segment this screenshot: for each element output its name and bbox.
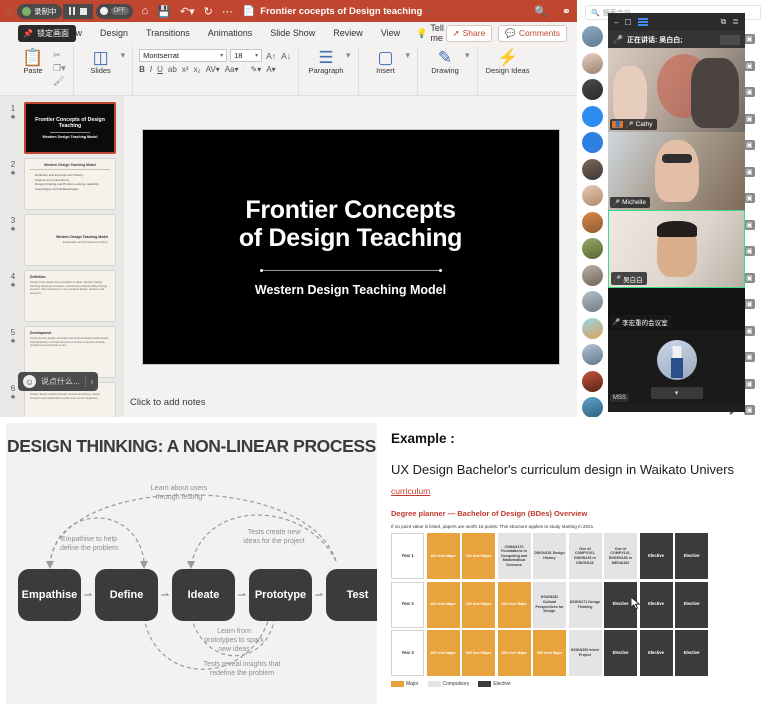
drawing-button[interactable]: ✎ Drawing — [425, 46, 465, 76]
text-highlight-icon[interactable]: ✎▾ — [251, 65, 262, 74]
chevron-down-icon[interactable]: ▾ — [427, 8, 430, 15]
tell-me-label: Tell me — [430, 23, 445, 43]
degree-planner-title: Degree planner — Bachelor of Design (BDe… — [391, 509, 770, 518]
ribbon-tabs[interactable]: Home Draw Design Transitions Animations … — [0, 22, 577, 44]
cam-off-icon: ▣ — [744, 167, 755, 177]
thumb-title: Western Design Teaching Model — [56, 235, 108, 239]
avatar[interactable] — [582, 53, 603, 74]
design-ideas-icon: ⚡ — [497, 48, 518, 67]
thumbnail-slide-3[interactable]: 3 ★ Western Design Teaching Model Explan… — [0, 212, 124, 268]
thumbnail-slide-2[interactable]: 2 ★ Western Design Teaching Model Defini… — [0, 156, 124, 212]
course-cell[interactable]: One of COMPX101, DSIGN125 or DSIGN126 — [569, 533, 602, 579]
slides-chevron-down-icon[interactable]: ▾ — [121, 50, 126, 61]
cut-icon[interactable]: ✂ — [53, 50, 66, 61]
table-row: Year 1 100 level Major 100 level Major C… — [391, 533, 770, 579]
lock-screen-label: 锁定画面 — [37, 28, 69, 39]
powerpoint-window: 录制中 OFF ⌂ 💾 ↶▾ ↻ ⋯ 📄 Frontier cocepts of… — [0, 0, 577, 417]
year-label: Year 2 — [391, 582, 424, 628]
arrow-right-icon: ⇀ — [312, 590, 326, 601]
font-family-value: Montserrat — [143, 51, 179, 60]
paste-button[interactable]: 📋 Paste — [13, 46, 53, 76]
thumbnail-slide-1[interactable]: 1 ★ Frontier Concepts of Design Teaching… — [0, 100, 124, 156]
slide-number: 5 — [2, 328, 24, 337]
arrow-right-icon: ⇀ — [81, 590, 95, 601]
course-cell[interactable]: Elective — [640, 533, 673, 579]
thumb-header: Development — [30, 331, 110, 335]
layout-icon[interactable]: ≣ — [732, 17, 739, 27]
search-icon: 🔍 — [591, 9, 600, 17]
slide-title-line1[interactable]: Frontier Concepts — [245, 196, 455, 224]
avatar[interactable] — [582, 371, 603, 392]
toggle-knob-icon — [100, 7, 108, 15]
file-title[interactable]: 📄 Frontier cocepts of Design teaching ▾ — [243, 6, 431, 17]
self-tile-label: MSS — [610, 394, 629, 402]
divider-line — [263, 270, 439, 271]
avatar[interactable] — [582, 185, 603, 206]
chevron-down-icon: ▾ — [220, 52, 223, 59]
course-cell[interactable]: Elective — [675, 533, 708, 579]
course-cell[interactable]: Elective — [675, 582, 708, 628]
thumb-body: Contemporary design education has evolve… — [30, 337, 110, 348]
subscript-icon[interactable]: x₂ — [194, 65, 201, 74]
logo-icon — [720, 35, 740, 45]
save-icon[interactable]: 💾 — [157, 5, 171, 18]
cam-off-icon: ▣ — [744, 405, 755, 415]
tab-review[interactable]: Review — [324, 28, 372, 38]
notes-placeholder: Click to add notes — [130, 397, 206, 408]
insert-textbox-icon: ▢ — [377, 48, 393, 67]
course-cell[interactable]: 100 level Major — [462, 533, 495, 579]
course-cell[interactable]: 300 level Major — [427, 630, 460, 676]
paragraph-group: ☰ Paragraph ▾ — [299, 46, 359, 95]
slide-subtitle[interactable]: Western Design Teaching Model — [255, 283, 446, 297]
avatar[interactable] — [582, 26, 603, 47]
chevron-down-icon[interactable]: ▾ — [465, 50, 470, 61]
close-dot[interactable] — [6, 8, 13, 15]
slide-thumbnail-panel[interactable]: 1 ★ Frontier Concepts of Design Teaching… — [0, 96, 124, 417]
course-cell[interactable]: 200 level Major — [427, 582, 460, 628]
font-family-select[interactable]: Montserrat ▾ — [139, 49, 227, 62]
lock-screen-tooltip: 📌 锁定画面 — [18, 25, 76, 42]
tile-name-badge: 🎤 Michelle — [610, 197, 650, 208]
speaker-icon: 🎤 — [613, 35, 623, 44]
stage-prototype[interactable]: Prototype — [249, 569, 312, 621]
table-legend: Major Compulsory Elective — [391, 681, 770, 687]
avatar[interactable] — [582, 132, 603, 153]
star-icon: ★ — [2, 225, 24, 234]
tab-animations[interactable]: Animations — [199, 28, 262, 38]
slide-number: 1 — [2, 104, 24, 113]
slide-number: 3 — [2, 216, 24, 225]
slide-editor-area: Frontier Concepts of Design Teaching Wes… — [124, 96, 577, 417]
course-cell[interactable]: DSIGN271 Design Thinking — [569, 582, 602, 628]
chat-input-overlay[interactable]: ☺ 说点什么... ‹ — [18, 372, 98, 391]
cam-on-icon: ▣ — [744, 87, 755, 97]
clipboard-group: 📋 Paste ✂ ❐▾ 🖌 — [6, 46, 74, 95]
cam-on-icon: ▣ — [744, 61, 755, 71]
slide-number: 4 — [2, 272, 24, 281]
paragraph-label: Paragraph — [308, 67, 343, 76]
mouse-cursor-icon — [631, 597, 642, 610]
course-cell[interactable]: 200 level Major — [462, 582, 495, 628]
table-row: Year 3 300 level Major 300 level Major 3… — [391, 630, 770, 676]
curriculum-link[interactable]: curriculum — [391, 486, 770, 496]
course-cell[interactable]: 100 level Major — [427, 533, 460, 579]
quick-access-toolbar[interactable]: ⌂ 💾 ↶▾ ↻ ⋯ — [142, 5, 233, 18]
video-tile-meeting-room[interactable]: 🎤 李宏重的会议室 — [608, 288, 745, 330]
avatar[interactable] — [582, 265, 603, 286]
undo-icon[interactable]: ↶▾ — [180, 5, 195, 18]
divider — [50, 132, 90, 133]
search-icon[interactable]: 🔍 — [534, 5, 548, 18]
curriculum-heading: UX Design Bachelor's curriculum design i… — [391, 462, 770, 477]
slide-number: 2 — [2, 160, 24, 169]
mic-on-icon: 🎤 — [613, 275, 621, 283]
tab-slide-show[interactable]: Slide Show — [261, 28, 324, 38]
course-cell[interactable]: 300 level Major — [462, 630, 495, 676]
course-cell[interactable]: Elective — [604, 630, 637, 676]
font-size-select[interactable]: 18 ▾ — [230, 49, 262, 62]
titlebar-right-actions[interactable]: 🔍 ⚭ — [534, 5, 571, 18]
points-note: If no point value is listed, papers are … — [391, 524, 770, 529]
home-icon[interactable]: ⌂ — [142, 5, 149, 17]
collapse-icon[interactable]: ‹ — [91, 377, 94, 386]
divider-dot-icon — [439, 269, 442, 272]
comment-icon: 💬 — [505, 28, 516, 39]
popout-icon[interactable]: ⧉ — [721, 17, 727, 27]
star-icon: ★ — [2, 281, 24, 290]
chat-placeholder: 说点什么... — [41, 376, 80, 387]
table-row: Year 2 200 level Major 200 level Major 2… — [391, 582, 770, 628]
curriculum-panel: Example : UX Design Bachelor's curriculu… — [383, 417, 770, 708]
font-size-value: 18 — [234, 51, 242, 60]
avatar[interactable] — [582, 318, 603, 339]
course-cell[interactable]: DSIGN350 Intern Project — [569, 630, 602, 676]
course-cell[interactable]: CSMAX170 Foundations in Computing and Ma… — [498, 533, 531, 579]
self-view-tile[interactable]: MSS ▾ — [608, 330, 745, 404]
thumbnail-slide-4[interactable]: 4 ★ Definition Design is the visual comm… — [0, 268, 124, 324]
mic-off-icon: 🎤 — [612, 318, 620, 326]
video-meeting-window: – ☐ ⧉ ≣ 🎤 正在讲话: 吴白白; 👤 🎤 — [608, 13, 745, 412]
design-thinking-title: DESIGN THINKING: A NON-LINEAR PROCESS — [6, 423, 377, 457]
character-spacing-icon[interactable]: AV▾ — [206, 65, 220, 74]
slides-icon: ◫ — [93, 48, 109, 67]
window-controls[interactable] — [6, 8, 13, 15]
chevron-down-icon: ▾ — [255, 52, 258, 59]
increase-font-size-icon[interactable]: A↑ — [265, 51, 277, 61]
caption-empathise-define: Empathise to help define the problem — [44, 535, 134, 553]
cam-off-icon: ▣ — [744, 220, 755, 230]
legend-label-major: Major — [406, 681, 419, 687]
course-cell[interactable]: 300 level Major — [533, 630, 566, 676]
decrease-font-size-icon[interactable]: A↓ — [280, 51, 292, 61]
slide-divider — [260, 269, 442, 272]
design-ideas-group: ⚡ Design Ideas — [478, 46, 538, 95]
star-icon: ★ — [2, 393, 24, 402]
mic-off-icon: 🎤 — [612, 199, 620, 207]
drawing-pen-icon: ✎ — [438, 48, 452, 67]
paragraph-button[interactable]: ☰ Paragraph — [306, 46, 346, 76]
avatar[interactable] — [582, 159, 603, 180]
caption-learn-from-prototypes: Learn from prototypes to spark new ideas — [188, 627, 280, 654]
avatar[interactable] — [582, 212, 603, 233]
course-cell[interactable]: 200 level Major — [498, 582, 531, 628]
restore-icon[interactable]: ☐ — [624, 18, 631, 27]
cam-on-icon: ▣ — [744, 114, 755, 124]
avatar[interactable] — [582, 79, 603, 100]
tab-transitions[interactable]: Transitions — [137, 28, 199, 38]
lightbulb-icon: 💡 — [416, 28, 427, 39]
speaking-label: 正在讲话: 吴白白; — [627, 35, 683, 45]
participant-name: 吴白白 — [623, 274, 643, 284]
font-group: Montserrat ▾ 18 ▾ A↑ A↓ B I U ab x² — [133, 46, 299, 95]
thumb-subtitle: Western Design Teaching Model — [43, 135, 98, 139]
stage-define[interactable]: Define — [95, 569, 158, 621]
share-label: Share — [463, 28, 486, 38]
screen-root: 录制中 OFF ⌂ 💾 ↶▾ ↻ ⋯ 📄 Frontier cocepts of… — [0, 0, 770, 708]
paste-icon: 📋 — [22, 48, 43, 67]
slides-label: Slides — [90, 67, 110, 76]
star-icon: ★ — [2, 337, 24, 346]
stage-empathise[interactable]: Empathise — [18, 569, 81, 621]
recording-controls[interactable] — [63, 4, 93, 19]
course-cell[interactable]: One of COMPX141, ENGEN180 or MEDIA102 — [604, 533, 637, 579]
tab-design[interactable]: Design — [91, 28, 137, 38]
host-icon: 👤 — [612, 121, 623, 128]
minimize-icon[interactable]: – — [614, 18, 618, 27]
degree-planner-table: Year 1 100 level Major 100 level Major C… — [391, 533, 770, 676]
thumb-header: Definition — [30, 275, 110, 279]
cam-off-icon: ▣ — [744, 193, 755, 203]
avatar[interactable] — [582, 238, 603, 259]
superscript-icon[interactable]: x² — [182, 65, 189, 74]
share-icon: ➚ — [453, 28, 460, 39]
avatar[interactable] — [582, 291, 603, 312]
design-ideas-button[interactable]: ⚡ Design Ideas — [485, 46, 531, 76]
star-icon: ★ — [2, 169, 24, 178]
stop-icon[interactable] — [80, 8, 87, 15]
design-thinking-diagram: Learn about users through testing Empath… — [6, 457, 377, 682]
paste-label: Paste — [23, 67, 42, 76]
insert-group: ▢ Insert ▾ — [359, 46, 419, 95]
file-name-label: Frontier cocepts of Design teaching — [260, 6, 422, 17]
pause-icon[interactable] — [69, 7, 75, 15]
legend-swatch-compulsory — [428, 681, 441, 687]
participant-name: Cathy — [636, 121, 653, 128]
ppt-title-bar: 录制中 OFF ⌂ 💾 ↶▾ ↻ ⋯ 📄 Frontier cocepts of… — [0, 0, 577, 22]
avatar[interactable] — [582, 397, 603, 417]
italic-icon[interactable]: I — [150, 65, 152, 74]
menu-icon[interactable] — [638, 18, 648, 26]
change-case-icon[interactable]: Aa▾ — [225, 65, 239, 74]
active-slide-canvas[interactable]: Frontier Concepts of Design Teaching Wes… — [142, 129, 560, 365]
avatar: ☺ — [23, 375, 36, 388]
copy-icon[interactable]: ❐▾ — [53, 63, 66, 74]
year-label: Year 1 — [391, 533, 424, 579]
stage-ideate[interactable]: Ideate — [172, 569, 235, 621]
thumb-title: Frontier Concepts of Design Teaching — [26, 117, 114, 129]
tile-name-badge: 🎤 李宏重的会议室 — [610, 315, 672, 328]
redo-icon[interactable]: ↻ — [204, 5, 213, 18]
recording-label: 录制中 — [34, 6, 57, 17]
course-cell[interactable]: Elective — [640, 582, 673, 628]
arrow-right-icon: ⇀ — [235, 590, 249, 601]
cloud-icon — [22, 7, 31, 16]
strikethrough-icon[interactable]: ab — [168, 65, 177, 74]
drawing-group: ✎ Drawing ▾ — [418, 46, 478, 95]
recording-toggle[interactable]: OFF — [96, 4, 133, 19]
conference-panel: 🔍 搜索会议 🎤▣ 🎤▣ 🎤▣ 🎤▣ 🎤▣ — [577, 0, 770, 417]
video-tile-wubaibai[interactable]: 🎤 吴白白 — [608, 210, 745, 288]
thumb-body: Today's design teaching blends practice … — [30, 393, 110, 400]
more-icon[interactable]: ⋯ — [222, 5, 233, 18]
expand-more-icon[interactable]: ▾ — [651, 387, 703, 399]
cam-off-icon: ▣ — [744, 379, 755, 389]
thumb-header: Western Design Teaching Model — [30, 163, 110, 170]
tab-view[interactable]: View — [372, 28, 409, 38]
course-cell[interactable]: DSIGN252 Cultural Perspectives for Desig… — [533, 582, 566, 628]
notes-pane[interactable]: Click to add notes — [124, 393, 577, 417]
ribbon-toolbar: 📋 Paste ✂ ❐▾ 🖌 ◫ Slides ▾ — [0, 44, 577, 96]
video-window-chrome[interactable]: – ☐ ⧉ ≣ — [608, 13, 745, 31]
cam-off-icon: ▣ — [744, 140, 755, 150]
slides-group: ◫ Slides ▾ — [74, 46, 134, 95]
tile-name-badge: 👤 🎤 Cathy — [610, 119, 657, 130]
course-cell[interactable]: Elective — [640, 630, 673, 676]
mic-off-icon: 🎤 — [625, 121, 633, 129]
chevron-down-icon[interactable]: ▾ — [346, 50, 351, 61]
document-icon: 📄 — [243, 6, 255, 17]
font-color-icon[interactable]: A▾ — [266, 65, 275, 74]
cam-off-icon: ▣ — [744, 326, 755, 336]
chevron-down-icon[interactable]: ▾ — [406, 50, 411, 61]
share-button[interactable]: ➚ Share — [446, 25, 493, 42]
comments-button[interactable]: 💬 Comments — [498, 25, 567, 42]
legend-swatch-major — [391, 681, 404, 687]
insert-label: Insert — [376, 67, 395, 76]
toggle-state-label: OFF — [111, 7, 129, 15]
thumb-subtitle: Explanation and Development History — [63, 241, 108, 245]
underline-icon[interactable]: U — [157, 65, 163, 74]
video-tile-michelle[interactable]: 🎤 Michelle — [608, 132, 745, 210]
design-thinking-panel: DESIGN THINKING: A NON-LINEAR PROCESS — [0, 417, 383, 708]
course-cell[interactable]: Elective — [675, 630, 708, 676]
course-cell[interactable]: 300 level Major — [498, 630, 531, 676]
pin-icon: 📌 — [23, 29, 33, 38]
active-speaker-bar: 🎤 正在讲话: 吴白白; — [608, 31, 745, 48]
example-label: Example : — [391, 431, 770, 446]
drawing-label: Drawing — [431, 67, 459, 76]
paragraph-align-icon: ☰ — [318, 48, 333, 67]
cam-off-icon: ▣ — [744, 246, 755, 256]
avatar — [657, 340, 697, 380]
caption-learn-about-users: Learn about users through testing — [134, 484, 224, 502]
cam-on-icon: ▣ — [744, 34, 755, 44]
new-slide-button[interactable]: ◫ Slides — [81, 46, 121, 76]
stage-test[interactable]: Test — [326, 569, 377, 621]
legend-label-compulsory: Compulsory — [443, 681, 470, 687]
cam-off-icon: ▣ — [744, 273, 755, 283]
comments-label: Comments — [519, 28, 560, 38]
year-label: Year 3 — [391, 630, 424, 676]
star-icon: ★ — [2, 113, 24, 122]
divider — [85, 376, 86, 387]
legend-label-elective: Elective — [493, 681, 511, 687]
participant-avatar-list[interactable] — [579, 26, 605, 417]
cam-off-icon: ▣ — [744, 352, 755, 362]
avatar[interactable] — [582, 344, 603, 365]
design-ideas-label: Design Ideas — [486, 67, 530, 76]
caption-tests-create-ideas: Tests create new ideas for the project — [228, 528, 320, 546]
slide-title-line2[interactable]: of Design Teaching — [239, 224, 462, 252]
participant-name: Michelle — [622, 199, 646, 206]
tell-me-box[interactable]: 💡 Tell me — [409, 23, 445, 43]
thumb-bullet: Advantages and Disadvantages — [30, 187, 110, 192]
caption-tests-reveal-insights: Tests reveal insights that redefine the … — [172, 660, 312, 678]
format-painter-icon[interactable]: 🖌 — [53, 76, 66, 87]
bold-icon[interactable]: B — [139, 65, 145, 74]
arrow-right-icon: ⇀ — [158, 590, 172, 601]
share-link-icon[interactable]: ⚭ — [562, 5, 571, 18]
legend-swatch-elective — [478, 681, 491, 687]
video-tile-cathy[interactable]: 👤 🎤 Cathy — [608, 48, 745, 132]
avatar[interactable] — [582, 106, 603, 127]
process-stage-row: Empathise ⇀ Define ⇀ Ideate ⇀ Prototype … — [18, 569, 377, 621]
tile-name-badge: 🎤 吴白白 — [611, 272, 647, 285]
course-cell[interactable]: DSIGN151 Design History — [533, 533, 566, 579]
recording-indicator: 录制中 — [17, 4, 62, 19]
thumb-body: Design is the visual communication of id… — [30, 281, 110, 295]
insert-button[interactable]: ▢ Insert — [366, 46, 406, 76]
participant-name: 李宏重的会议室 — [622, 317, 668, 327]
cam-off-icon: ▣ — [744, 299, 755, 309]
